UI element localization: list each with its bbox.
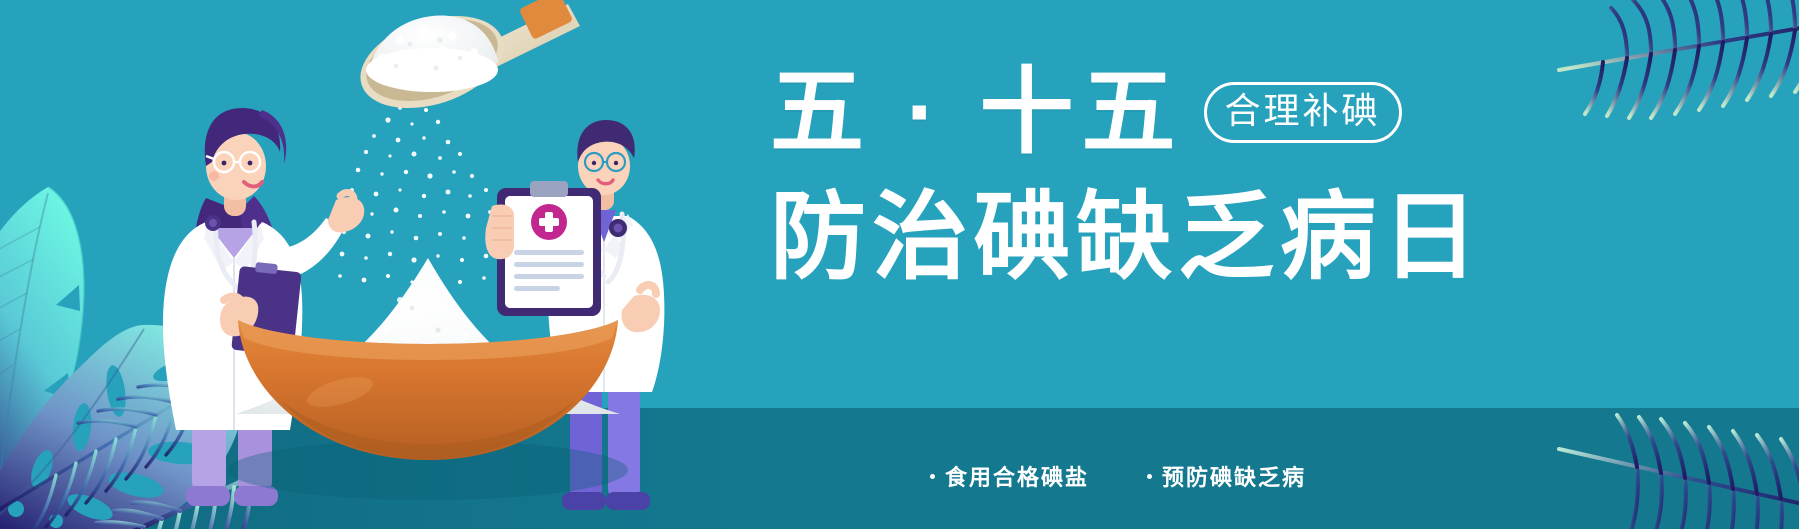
slogan-text: 预防碘缺乏病	[1162, 460, 1306, 492]
iodine-deficiency-day-banner: 五 · 十五 合理补碘 防治碘缺乏病日 食用合格碘盐 预防碘缺乏病	[0, 0, 1799, 529]
event-date: 五 · 十五	[770, 60, 1184, 164]
slogan-item: 食用合格碘盐	[930, 460, 1089, 492]
salt-spoon	[349, 0, 580, 125]
slogan-badge: 合理补碘	[1204, 82, 1402, 143]
bullet-dot-icon	[1147, 474, 1152, 479]
slogan-text: 食用合格碘盐	[945, 460, 1089, 492]
title-row: 五 · 十五 合理补碘	[770, 60, 1430, 164]
slogan-strip: 食用合格碘盐 预防碘缺乏病	[930, 460, 1306, 492]
slogan-item: 预防碘缺乏病	[1147, 460, 1306, 492]
headline-block: 五 · 十五 合理补碘 防治碘缺乏病日	[770, 60, 1430, 360]
salt-stream	[338, 94, 510, 285]
salt-and-doctors-illustration	[0, 0, 760, 529]
page-title: 防治碘缺乏病日	[770, 186, 1430, 290]
bullet-dot-icon	[930, 474, 935, 479]
